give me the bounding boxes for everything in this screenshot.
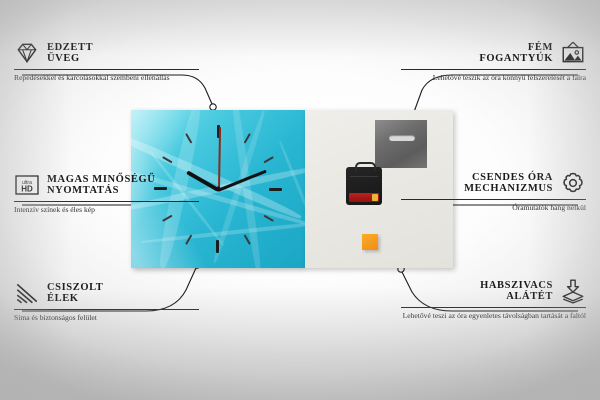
clock-mechanism <box>346 167 382 205</box>
foam-pad-icon <box>560 278 586 304</box>
infographic-canvas: EDZETT ÜVEG Repedésekkel és karcolásokka… <box>0 0 600 400</box>
metal-hanger-plate <box>375 120 427 168</box>
foam-pad <box>362 234 378 250</box>
feature-description: Intenzív színek és éles kép <box>14 205 199 214</box>
feature-title-line1: MAGAS MINŐSÉGŰ <box>47 174 155 186</box>
feature-title-line2: ÉLEK <box>47 293 103 305</box>
diamond-icon <box>14 40 40 66</box>
clock-minute-hand <box>217 170 266 192</box>
feature-title-line1: HABSZIVACS <box>480 280 553 292</box>
feature-title-line1: FÉM <box>479 42 553 54</box>
svg-text:HD: HD <box>21 185 33 194</box>
clock-second-hand <box>218 127 221 189</box>
picture-hanging-icon <box>560 40 586 66</box>
divider <box>401 69 586 70</box>
feature-foam-pad: HABSZIVACS ALÁTÉT Lehetővé teszi az óra … <box>401 278 586 320</box>
feature-title-line1: EDZETT <box>47 42 93 54</box>
feature-description: Repedésekkel és karcolásokkal szembeni e… <box>14 73 199 82</box>
divider <box>14 309 199 310</box>
feature-title-line2: ÜVEG <box>47 53 93 65</box>
ultra-hd-icon: ultra HD <box>14 172 40 198</box>
divider <box>401 307 586 308</box>
divider <box>14 69 199 70</box>
polished-edges-icon <box>14 280 40 306</box>
clock-center-pin <box>216 187 221 192</box>
feature-title-line2: ALÁTÉT <box>480 291 553 303</box>
feature-high-quality-print: ultra HD MAGAS MINŐSÉGŰ NYOMTATÁS Intenz… <box>14 172 199 214</box>
feature-description: Óramutatók hang nélkül <box>401 203 586 212</box>
gear-icon <box>560 170 586 196</box>
feature-description: Sima és biztonságos felület <box>14 313 199 322</box>
battery <box>349 193 379 202</box>
feature-metal-handles: FÉM FOGANTYÚK Lehetővé teszik az óra kön… <box>401 40 586 82</box>
feature-title-line1: CSISZOLT <box>47 282 103 294</box>
divider <box>14 201 199 202</box>
feature-polished-edges: CSISZOLT ÉLEK Sima és biztonságos felüle… <box>14 280 199 322</box>
feature-title-line1: CSENDES ÓRA <box>464 172 553 184</box>
feature-tempered-glass: EDZETT ÜVEG Repedésekkel és karcolásokka… <box>14 40 199 82</box>
divider <box>401 199 586 200</box>
feature-title-line2: FOGANTYÚK <box>479 53 553 65</box>
feature-description: Lehetővé teszik az óra könnyű felszerelé… <box>401 73 586 82</box>
feature-description: Lehetővé teszi az óra egyenletes távolsá… <box>401 311 586 320</box>
feature-title-line2: MECHANIZMUS <box>464 183 553 195</box>
feature-title-line2: NYOMTATÁS <box>47 185 155 197</box>
feature-silent-mechanism: CSENDES ÓRA MECHANIZMUS Óramutatók hang … <box>401 170 586 212</box>
